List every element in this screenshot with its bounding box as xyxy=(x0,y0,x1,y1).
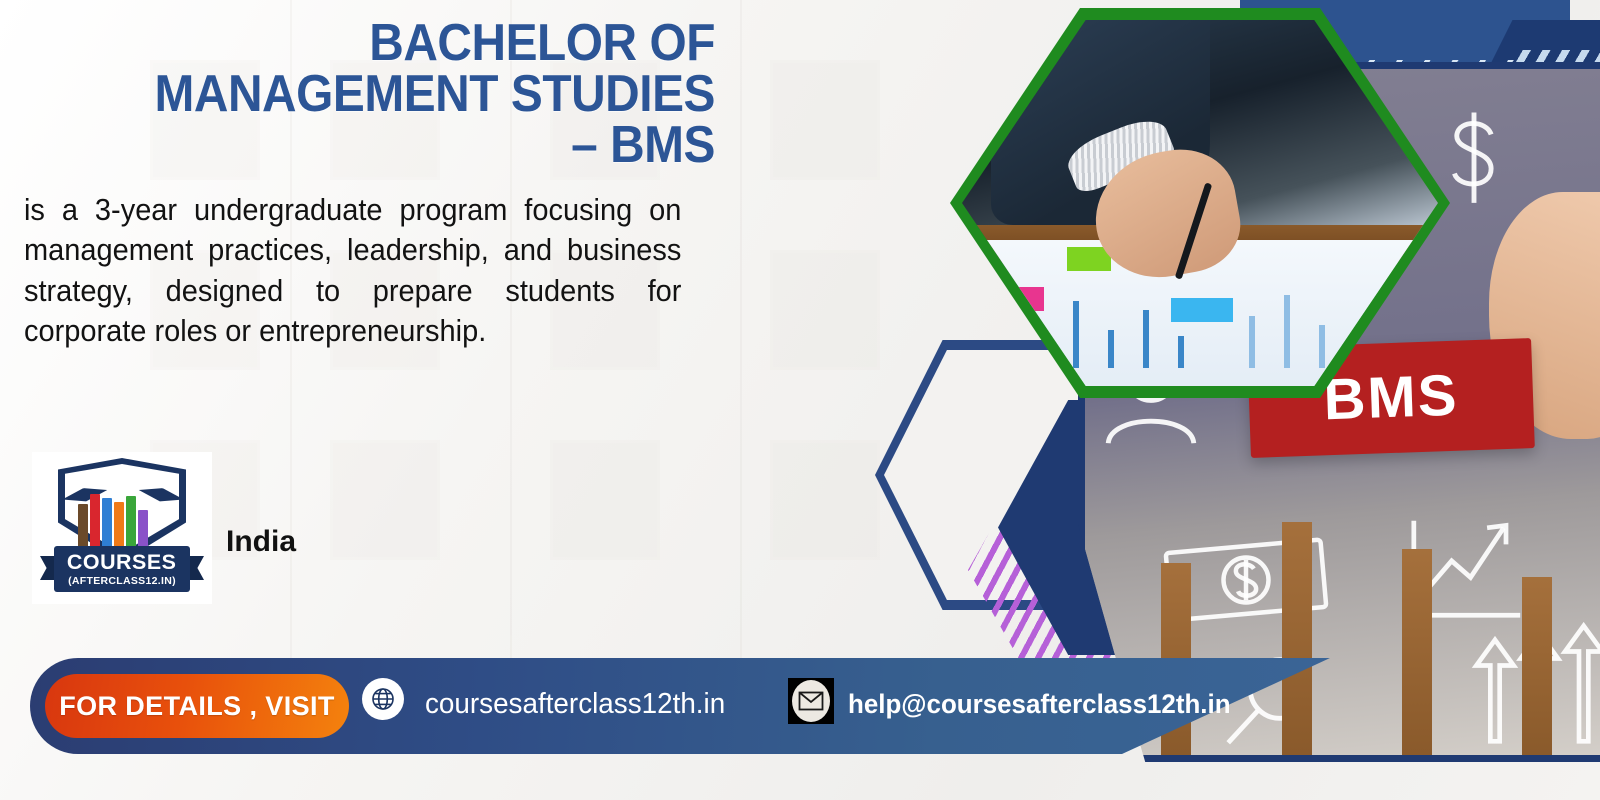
for-details-visit-button[interactable]: FOR DETAILS , VISIT xyxy=(45,674,349,738)
country-label: India xyxy=(226,525,296,559)
title-line-2: MANAGEMENT STUDIES xyxy=(57,69,715,120)
logo-sub-text: (AFTERCLASS12.IN) xyxy=(68,575,176,587)
title-line-3: – BMS xyxy=(57,120,715,171)
page-title: BACHELOR OF MANAGEMENT STUDIES – BMS xyxy=(57,18,715,171)
content-panel: BACHELOR OF MANAGEMENT STUDIES – BMS is … xyxy=(0,0,760,660)
website-link[interactable]: coursesafterclass12th.in xyxy=(425,688,725,721)
globe-icon xyxy=(362,678,404,720)
course-description: is a 3-year undergraduate program focusi… xyxy=(24,190,681,351)
books-icon xyxy=(78,492,148,548)
brand-logo[interactable]: COURSES (AFTERCLASS12.IN) xyxy=(32,452,212,604)
logo-ribbon: COURSES (AFTERCLASS12.IN) xyxy=(40,546,204,592)
business-meeting-photo xyxy=(962,20,1438,386)
title-line-1: BACHELOR OF xyxy=(57,18,715,69)
envelope-icon xyxy=(788,678,834,724)
email-link[interactable]: help@coursesafterclass12th.in xyxy=(848,689,1231,720)
green-hexagon-photo xyxy=(950,8,1450,398)
promotional-banner: BMS xyxy=(0,0,1600,800)
logo-main-text: COURSES xyxy=(67,552,177,573)
